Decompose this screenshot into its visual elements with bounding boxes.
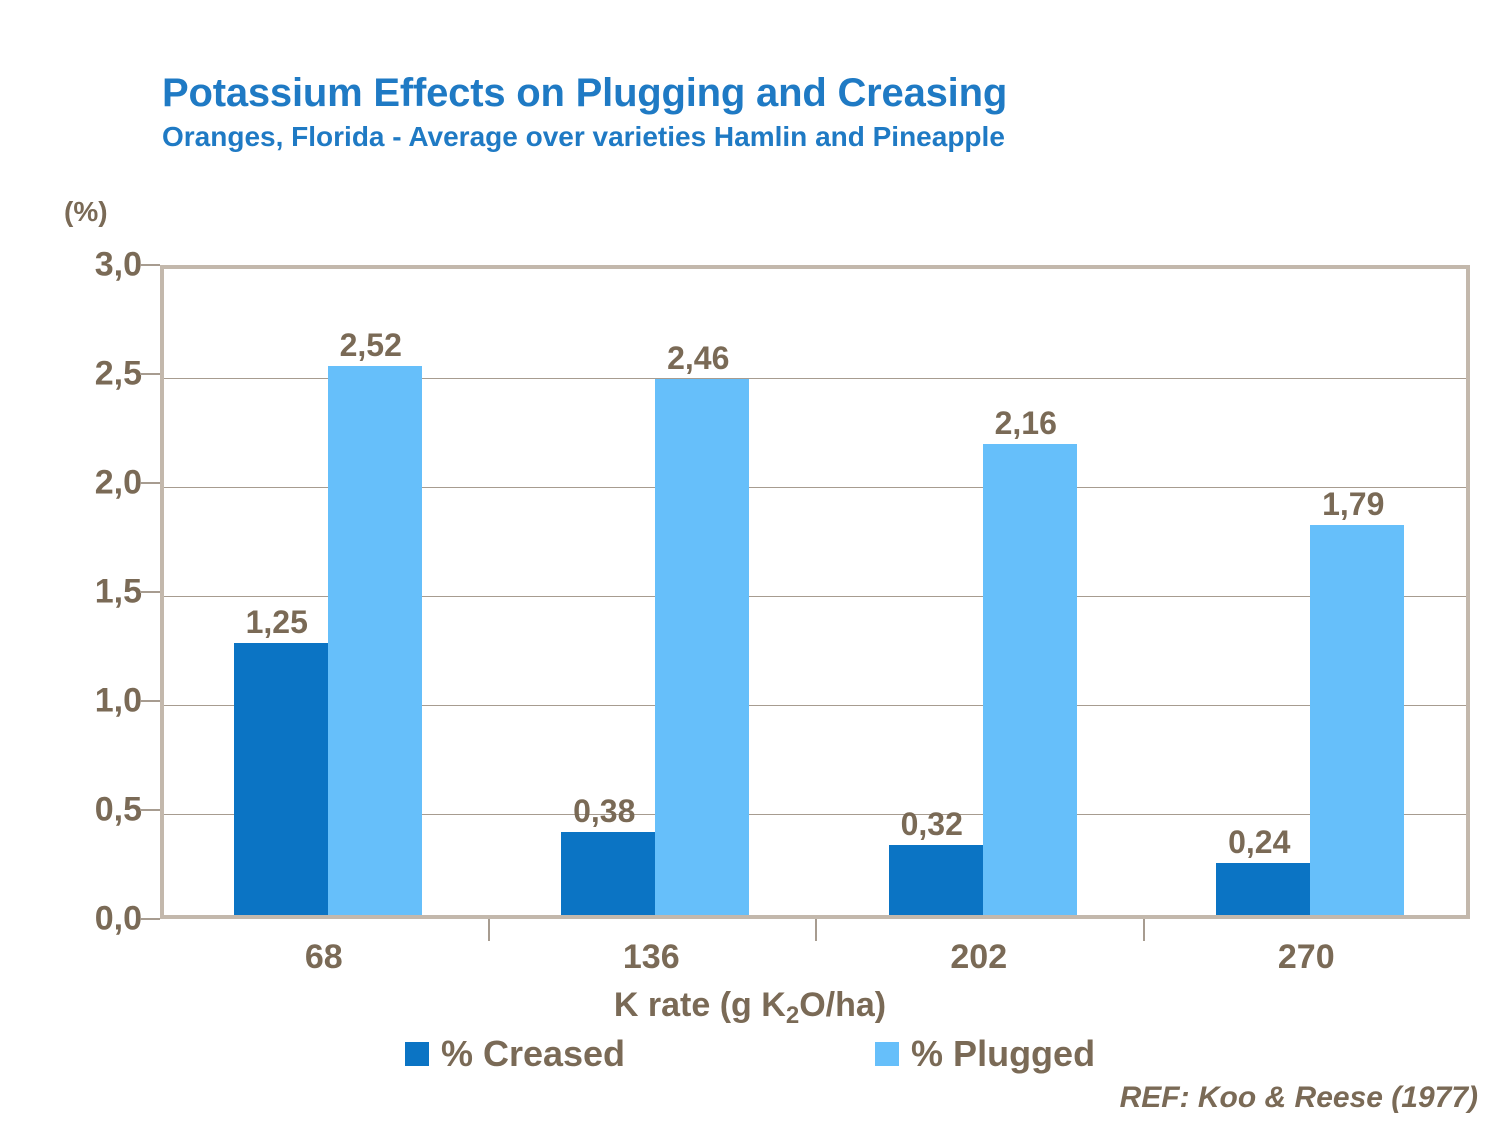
reference-note: REF: Koo & Reese (1977) xyxy=(1120,1081,1478,1115)
x-axis-tick-mark xyxy=(1143,919,1145,941)
x-axis-tick-label-270: 270 xyxy=(1278,938,1335,977)
x-axis-title-before: K rate (g K xyxy=(614,986,786,1024)
x-axis-title-subscript: 2 xyxy=(786,1002,799,1029)
legend-label: % Plugged xyxy=(911,1036,1095,1072)
y-axis-unit-label: (%) xyxy=(64,196,108,228)
y-axis-tick-label: 1,5 xyxy=(22,573,142,612)
x-axis-tick-label-136: 136 xyxy=(623,938,680,977)
legend: % Creased% Plugged xyxy=(0,1036,1500,1072)
bar-plugged-270[interactable] xyxy=(1310,525,1404,915)
bar-value-label: 0,32 xyxy=(901,806,963,843)
page-subtitle: Oranges, Florida - Average over varietie… xyxy=(162,121,1442,153)
bar-value-label: 0,38 xyxy=(573,793,635,830)
y-axis-tick-mark xyxy=(140,591,160,593)
bar-creased-68[interactable] xyxy=(234,643,328,916)
legend-item[interactable]: % Plugged xyxy=(875,1036,1095,1072)
page-title: Potassium Effects on Plugging and Creasi… xyxy=(162,72,1442,115)
bar-value-label: 1,79 xyxy=(1322,486,1384,523)
bar-plugged-202[interactable] xyxy=(983,444,1077,915)
y-axis-tick-label: 2,5 xyxy=(22,355,142,394)
legend-swatch-icon xyxy=(405,1042,429,1066)
legend-item[interactable]: % Creased xyxy=(405,1036,625,1072)
y-axis-tick-mark xyxy=(140,809,160,811)
x-axis-tick-label-68: 68 xyxy=(305,938,343,977)
legend-label: % Creased xyxy=(441,1036,625,1072)
y-axis-tick-label: 0,0 xyxy=(22,900,142,939)
bar-creased-202[interactable] xyxy=(889,845,983,915)
y-axis-tick-mark xyxy=(140,482,160,484)
x-axis-title: K rate (g K2O/ha) xyxy=(0,986,1500,1025)
x-axis-tick-mark xyxy=(815,919,817,941)
bar-value-label: 2,46 xyxy=(667,340,729,377)
x-axis-tick-label-202: 202 xyxy=(950,938,1007,977)
y-axis-tick-label: 1,0 xyxy=(22,682,142,721)
bar-creased-136[interactable] xyxy=(561,832,655,915)
x-axis-title-after: O/ha) xyxy=(799,986,886,1024)
bar-value-label: 2,16 xyxy=(995,405,1057,442)
y-axis-tick-mark xyxy=(140,700,160,702)
legend-swatch-icon xyxy=(875,1042,899,1066)
bar-value-label: 2,52 xyxy=(340,327,402,364)
y-axis-tick-mark xyxy=(140,918,160,920)
bar-plugged-68[interactable] xyxy=(328,366,422,915)
y-axis-tick-mark xyxy=(140,373,160,375)
bar-value-label: 1,25 xyxy=(246,604,308,641)
x-axis-tick-mark xyxy=(488,919,490,941)
y-axis-tick-label: 2,0 xyxy=(22,464,142,503)
bar-value-label: 0,24 xyxy=(1228,824,1290,861)
y-axis-tick-label: 0,5 xyxy=(22,791,142,830)
y-axis-tick-label: 3,0 xyxy=(22,246,142,285)
title-block: Potassium Effects on Plugging and Creasi… xyxy=(162,72,1442,153)
y-axis-tick-mark xyxy=(140,264,160,266)
bar-creased-270[interactable] xyxy=(1216,863,1310,915)
bar-plugged-136[interactable] xyxy=(655,379,749,915)
